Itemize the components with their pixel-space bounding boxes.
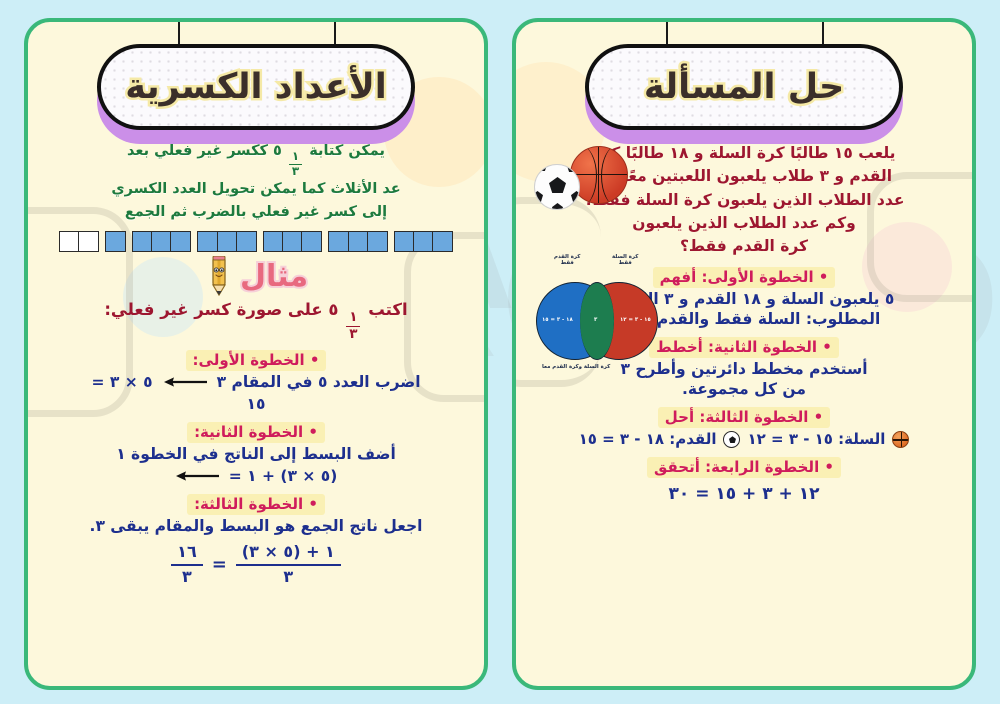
soccer-ball-icon (534, 164, 580, 210)
card-title-right: حل المسألة (530, 44, 958, 130)
fraction-cell-filled (236, 231, 257, 252)
final-fraction-left: ١٦ ٣ (171, 543, 203, 586)
fraction-cell-filled (217, 231, 238, 252)
fraction-cell-filled (105, 231, 126, 252)
fraction-cell-filled (328, 231, 349, 252)
fraction-cell-filled (197, 231, 218, 252)
fraction-cell-filled (132, 231, 153, 252)
step-two-calc-row: (٥ × ٣) + ١ = (42, 467, 470, 485)
step-text-plan-2: من كل مجموعة. (536, 380, 952, 398)
fraction-cell-filled (301, 231, 322, 252)
step-label-solve: • الخطوة الثالثة: أحل (530, 407, 958, 426)
fraction-strip (42, 231, 470, 252)
fraction-cell-filled (394, 231, 415, 252)
intro-inline-fraction: ١ ٣ (289, 151, 302, 178)
intro-line1-before: يمكن كتابة (309, 143, 385, 159)
fraction-cell-filled (170, 231, 191, 252)
venn-diagram: كرة القدمفقط كرة السلةفقط ١٨ - ٣ = ١٥ ٣ … (528, 254, 678, 376)
final-left-numerator: ١٦ (171, 543, 203, 565)
verify-equation: ١٢ + ٣ + ١٥ = ٣٠ (530, 484, 958, 504)
fraction-cell-filled (413, 231, 434, 252)
question-inline-fraction: ١ ٣ (346, 311, 360, 341)
title-label: حل المسألة (644, 67, 844, 107)
intro-line1-after: ككسر غير فعلي بعد (127, 143, 268, 159)
venn-label-both: كرة السلة وكرة القدم معا (542, 364, 610, 370)
fraction-strip-group (105, 231, 126, 252)
venn-label-football: كرة القدمفقط (554, 254, 580, 267)
question-suffix: على صورة كسر غير فعلي: (104, 300, 322, 319)
fraction-strip-group (197, 231, 256, 252)
pencil-icon (204, 256, 234, 296)
intro-paragraph: يمكن كتابة ١ ٣ ٥ ككسر غير فعلي بعد عد ال… (48, 140, 464, 223)
intro-fraction-numerator: ١ (289, 151, 302, 165)
fraction-strip-group (263, 231, 322, 252)
step-one-row: اضرب العدد ٥ في المقام ٣ ٥ × ٣ = (42, 373, 470, 391)
problem-line: وكم عدد الطلاب الذين يلعبون (538, 212, 950, 235)
question-prefix: اكتب (368, 300, 407, 319)
step-three-text: اجعل ناتج الجمع هو البسط والمقام يبقى ٣. (48, 517, 464, 535)
fraction-cell-filled (367, 231, 388, 252)
intro-line-1: يمكن كتابة ١ ٣ ٥ ككسر غير فعلي بعد (48, 140, 464, 178)
solve-results-row: السلة: ١٥ - ٣ = ١٢ القدم: ١٨ - ٣ = ١٥ (530, 430, 958, 448)
intro-line-2: عد الأثلاث كما يمكن تحويل العدد الكسري (48, 178, 464, 200)
card-mixed-numbers: الأعداد الكسرية يمكن كتابة ١ ٣ ٥ ككسر غي… (24, 18, 488, 690)
question-fraction-denominator: ٣ (346, 327, 360, 342)
step-two-text: أضف البسط إلى الناتج في الخطوة ١ (48, 445, 464, 463)
sports-balls-illustration (532, 140, 652, 214)
fraction-strip-group-empty (59, 231, 99, 252)
final-left-denominator: ٣ (176, 566, 198, 586)
title-pill: الأعداد الكسرية (97, 44, 415, 130)
title-label: الأعداد الكسرية (125, 67, 387, 107)
basketball-bullet-icon (892, 431, 909, 448)
intro-line-3: إلى كسر غير فعلي بالضرب ثم الجمع (48, 201, 464, 223)
fraction-cell-empty (59, 231, 80, 252)
example-question: اكتب ١ ٣ ٥ على صورة كسر غير فعلي: (48, 300, 464, 341)
soccer-bullet-icon (723, 431, 740, 448)
venn-value-basketball: ١٥ - ٣ = ١٢ (620, 317, 651, 323)
fraction-cell-filled (348, 231, 369, 252)
fraction-strip-group (132, 231, 191, 252)
step-label-one: • الخطوة الأولى: (42, 350, 470, 369)
step-label-verify: • الخطوة الرابعة: أتحقق (530, 457, 958, 476)
question-whole-number: ٥ (328, 300, 338, 319)
fraction-strip-group (394, 231, 453, 252)
fraction-cell-filled (282, 231, 303, 252)
fraction-cell-filled (151, 231, 172, 252)
example-badge-row: مثال (42, 256, 470, 296)
solve-football-value: القدم: ١٨ - ٣ = ١٥ (579, 430, 717, 448)
step-one-calc: ٥ × ٣ = (91, 373, 152, 391)
final-fraction-equation: ١٦ ٣ = (٥ × ٣) + ١ ٣ (42, 543, 470, 586)
card-title-left: الأعداد الكسرية (42, 44, 470, 130)
cards-container: حل المسألة يلعب ١٥ طالبًا كرة السلة و ١٨… (0, 0, 1000, 704)
venn-label-basketball: كرة السلةفقط (612, 254, 638, 267)
arrow-left-icon (163, 375, 207, 389)
step-one-result: ١٥ (42, 395, 470, 413)
fraction-strip-group (328, 231, 387, 252)
question-fraction-numerator: ١ (346, 311, 360, 327)
intro-fraction-denominator: ٣ (289, 165, 302, 178)
venn-value-football: ١٨ - ٣ = ١٥ (542, 317, 573, 323)
fraction-cell-filled (432, 231, 453, 252)
final-right-numerator: (٥ × ٣) + ١ (236, 543, 341, 565)
title-pill: حل المسألة (585, 44, 903, 130)
equals-sign: = (212, 554, 227, 575)
fraction-cell-empty (78, 231, 99, 252)
intro-whole-number: ٥ (273, 143, 282, 159)
solve-basketball-value: السلة: ١٥ - ٣ = ١٢ (747, 430, 885, 448)
card-solve-problem: حل المسألة يلعب ١٥ طالبًا كرة السلة و ١٨… (512, 18, 976, 690)
step-label-three: • الخطوة الثالثة: (42, 494, 470, 513)
final-right-denominator: ٣ (277, 566, 299, 586)
step-two-calc: (٥ × ٣) + ١ = (229, 467, 338, 485)
venn-value-overlap: ٣ (594, 317, 597, 323)
arrow-left-icon (175, 469, 219, 483)
fraction-cell-filled (263, 231, 284, 252)
step-label-two: • الخطوة الثانية: (42, 422, 470, 441)
step-one-text: اضرب العدد ٥ في المقام ٣ (217, 373, 421, 391)
final-fraction-right: (٥ × ٣) + ١ ٣ (236, 543, 341, 586)
example-badge-label: مثال (240, 259, 308, 294)
